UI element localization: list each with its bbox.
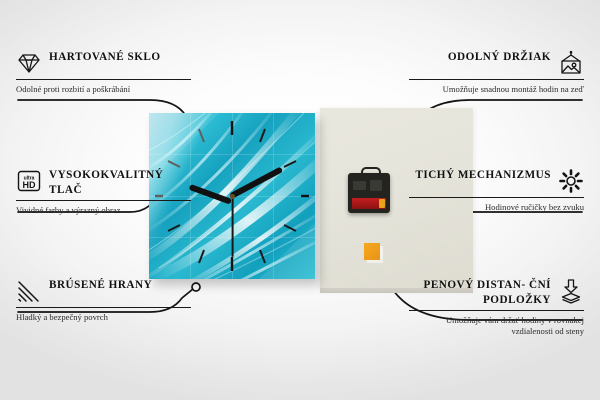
feature-desc: Umožňuje vám držať hodiny v rovnakej vzd… [409,315,584,338]
wall-frame-icon [558,50,584,76]
clock-center-pin [230,194,235,199]
feature-title: BRÚSENÉ HRANY [49,278,152,293]
feature-title: PENOVÝ DISTAN- ČNÍ PODLOŽKY [409,278,551,307]
ground-edges-icon [16,278,42,304]
feature-silent-mechanism: TICHÝ MECHANIZMUS Hodinové ručičky bez z… [409,168,584,213]
divider [16,79,191,80]
foam-pad-icon [558,278,584,304]
divider [409,197,584,198]
movement-body [348,173,390,213]
feature-desc: Umožňuje snadnou montáž hodin na zeď [409,84,584,95]
divider [409,310,584,311]
movement-detail-right [370,180,382,191]
node-edges [192,283,200,291]
feature-high-quality-print: ultra HD VYSOKOKVALITNÝ TLAČ Vividné far… [16,168,191,216]
gear-icon [558,168,584,194]
battery [352,198,386,209]
movement-detail-left [353,181,366,190]
feature-title: HARTOVANÉ SKLO [49,50,161,65]
feature-desc: Odolné proti rozbití a poškrábání [16,84,191,95]
diamond-icon [16,50,42,76]
hour-hand [189,184,232,205]
divider [16,200,191,201]
divider [409,79,584,80]
feature-title: TICHÝ MECHANIZMUS [415,168,551,183]
foam-spacer [364,243,380,260]
clock-movement [348,173,390,213]
feature-desc: Vividné farby a výrazný obraz [16,205,191,216]
feature-tempered-glass: HARTOVANÉ SKLO Odolné proti rozbití a po… [16,50,191,95]
feature-durable-holder: ODOLNÝ DRŽIAK Umožňuje snadnou montáž ho… [409,50,584,95]
feature-title: VYSOKOKVALITNÝ TLAČ [49,168,191,197]
minute-hand [229,166,283,199]
second-hand [232,197,234,257]
svg-text:HD: HD [23,180,36,190]
feature-title: ODOLNÝ DRŽIAK [448,50,551,65]
feature-foam-spacers: PENOVÝ DISTAN- ČNÍ PODLOŽKY Umožňuje vám… [409,278,584,338]
feature-desc: Hladký a bezpečný povrch [16,312,191,323]
feature-desc: Hodinové ručičky bez zvuku [409,202,584,213]
divider [16,307,191,308]
feature-ground-edges: BRÚSENÉ HRANY Hladký a bezpečný povrch [16,278,191,323]
ultra-hd-icon: ultra HD [16,168,42,194]
infographic-canvas: HARTOVANÉ SKLO Odolné proti rozbití a po… [0,0,600,400]
